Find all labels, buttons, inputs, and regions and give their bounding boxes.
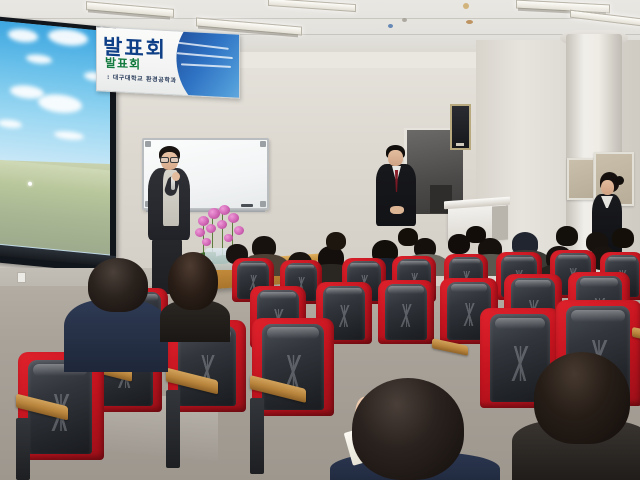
wall-notice-panel-1 — [567, 158, 595, 200]
banner-organization: : 대구대학교 환경공학과 — [107, 72, 177, 85]
eyeglasses-icon — [160, 157, 178, 161]
ceiling-sensor-3 — [388, 24, 393, 28]
auditorium-photograph: 시작 5개 항목 선택함 2개 ▾ ⌨ 오후 발표회 발표회 : 대구대학교 환… — [0, 0, 640, 480]
standing-woman-hair-bun — [615, 176, 624, 185]
banner-swoosh-graphic — [168, 26, 240, 99]
foreground-person-center-head — [352, 378, 464, 480]
wall-outlet — [17, 272, 26, 283]
standing-woman-face — [601, 180, 614, 195]
wall-mounted-speaker — [450, 104, 471, 150]
ceiling-sensor-1 — [402, 18, 407, 22]
seat-arm-post — [250, 398, 264, 474]
foreground-person-left-head — [88, 258, 148, 312]
foreground-person-right-head — [534, 352, 630, 444]
audience-head — [466, 226, 486, 243]
ceiling-sprinkler — [463, 3, 469, 9]
banner-subtitle: 발표회 — [105, 54, 141, 73]
event-banner: 발표회 발표회 : 대구대학교 환경공학과 — [96, 26, 240, 99]
seat-arm-post — [166, 390, 180, 468]
audience-head — [398, 228, 418, 246]
foreground-person-left2-head — [168, 252, 218, 310]
audience-head — [612, 228, 634, 248]
seat-arm-post — [16, 418, 30, 480]
projection-screen-image: 시작 5개 항목 선택함 2개 ▾ ⌨ 오후 — [0, 21, 110, 264]
audience-head — [556, 226, 578, 246]
suited-man-hands — [390, 206, 404, 214]
audience-head — [326, 232, 346, 250]
ceiling-sensor-2 — [466, 20, 473, 24]
presenter-hand — [172, 172, 180, 181]
lectern-side — [492, 205, 508, 240]
suited-man-face — [388, 150, 403, 166]
ceiling-light-3 — [268, 0, 356, 12]
